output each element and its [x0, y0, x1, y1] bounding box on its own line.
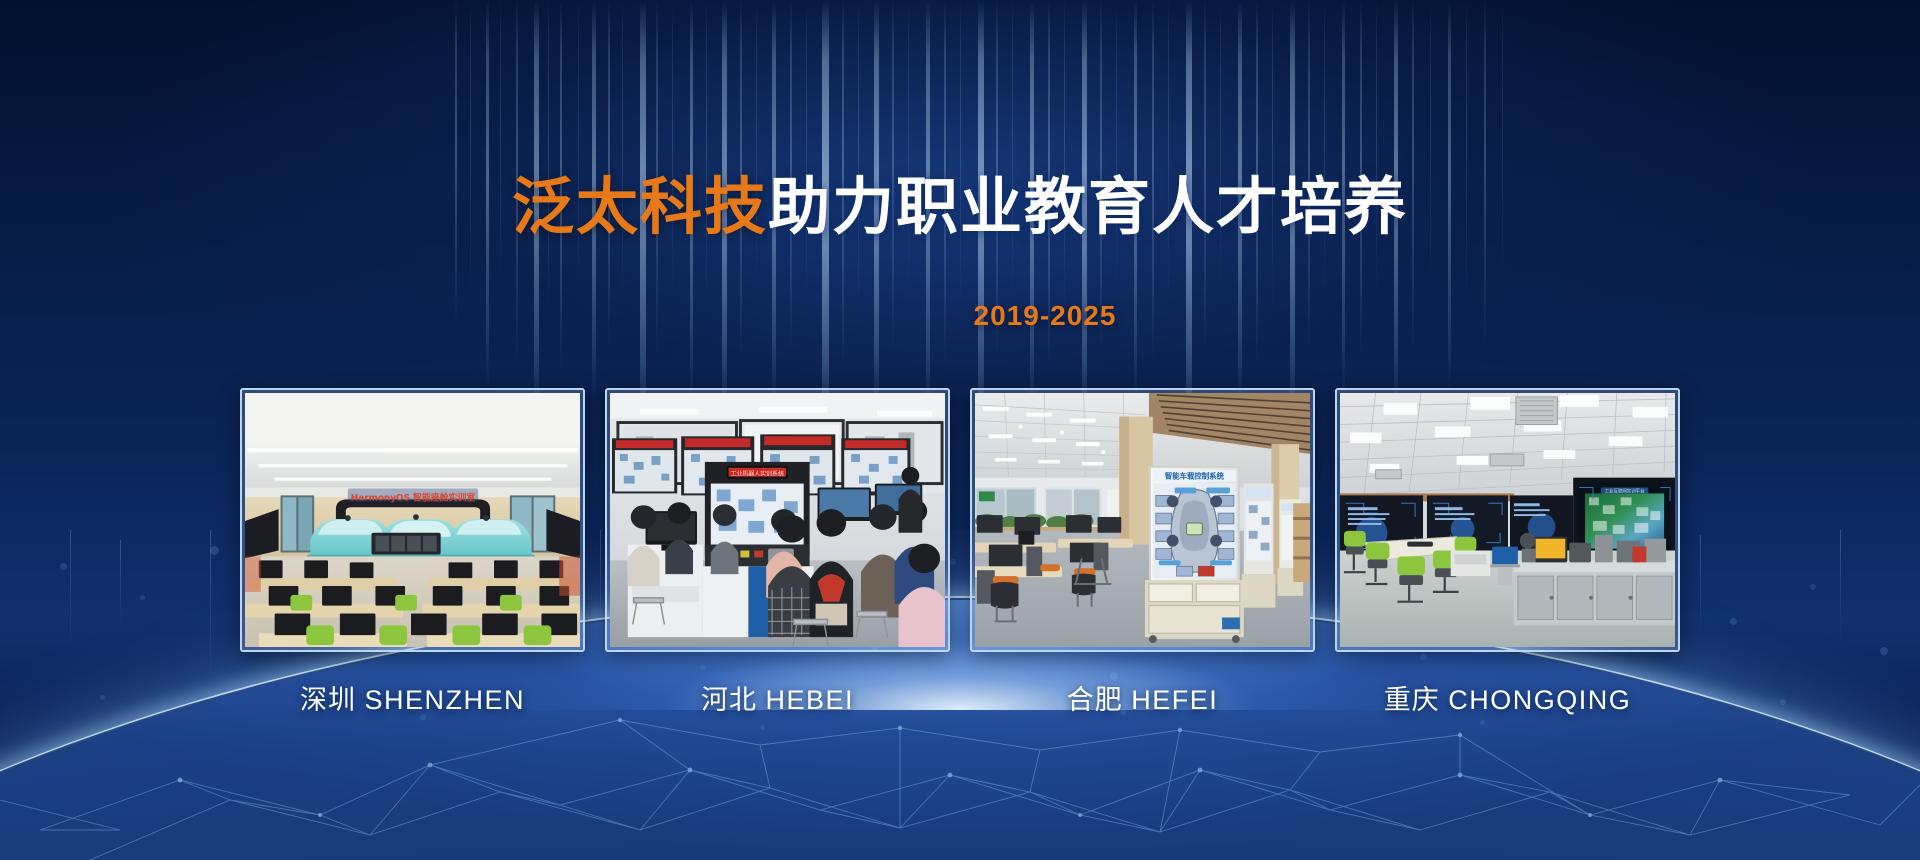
light-ray [908, 0, 909, 290]
particle-dot [100, 695, 105, 700]
light-ray [622, 0, 623, 300]
photo-gallery: HarmonyOS 智能座舱实训室 [240, 388, 1680, 717]
light-ray [578, 0, 579, 290]
photo-frame: HarmonyOS 智能座舱实训室 [240, 388, 585, 652]
light-ray [1376, 0, 1377, 298]
caption-en: HEBEI [765, 685, 854, 715]
photo-frame: 工业互联网实训平台 [1335, 388, 1680, 652]
light-ray [455, 0, 457, 330]
particle-dot [210, 546, 219, 555]
light-ray [548, 0, 549, 310]
light-ray [1116, 0, 1117, 292]
page-title: 泛太科技助力职业教育人才培养 [0, 172, 1920, 244]
light-ray [1064, 0, 1065, 312]
light-ray [706, 0, 707, 305]
caption-en: CHONGQING [1448, 685, 1631, 715]
light-ray [672, 0, 673, 295]
gallery-caption-shenzhen: 深圳 SHENZHEN [240, 678, 585, 717]
svg-text:工业机器人实训系统: 工业机器人实训系统 [731, 470, 784, 478]
svg-text:工业互联网实训平台: 工业互联网实训平台 [1605, 487, 1645, 494]
gallery-item-shenzhen[interactable]: HarmonyOS 智能座舱实训室 [240, 388, 585, 717]
photo-shenzhen: HarmonyOS 智能座舱实训室 [245, 393, 580, 647]
light-ray [858, 0, 859, 310]
light-streak [1840, 530, 1841, 645]
light-streak [120, 540, 121, 630]
light-ray [1220, 0, 1221, 288]
particle-dot [140, 595, 145, 600]
light-ray [1466, 0, 1467, 300]
particle-dot [1480, 720, 1485, 725]
title-year-range: 2019-2025 [0, 300, 1920, 332]
particle-dot [1880, 647, 1888, 655]
gallery-caption-chongqing: 重庆 CHONGQING [1335, 678, 1680, 717]
photo-frame: 智能车载控制系统 [970, 388, 1315, 652]
gallery-caption-hebei: 河北 HEBEI [605, 678, 950, 717]
light-streak [1700, 535, 1701, 635]
title-rest: 助力职业教育人才培养 [768, 173, 1408, 242]
particle-dot [1810, 584, 1816, 590]
particle-dot [760, 725, 765, 730]
gallery-item-hebei[interactable]: 工业机器人实训系统 [605, 388, 950, 717]
light-ray [1324, 0, 1325, 294]
particle-dot [1780, 699, 1786, 705]
light-ray [470, 0, 471, 300]
light-streak [70, 530, 71, 650]
promotional-banner: 泛太科技助力职业教育人才培养 2019-2025 [0, 0, 1920, 860]
light-ray [1272, 0, 1273, 308]
svg-text:智能车载控制系统: 智能车载控制系统 [1164, 472, 1225, 481]
caption-en: SHENZHEN [365, 685, 526, 715]
caption-cn: 河北 [701, 685, 757, 715]
caption-cn: 深圳 [300, 685, 356, 715]
photo-hebei: 工业机器人实训系统 [610, 393, 945, 647]
photo-chongqing: 工业互联网实训平台 [1340, 393, 1675, 647]
light-ray [960, 0, 961, 302]
gallery-item-hefei[interactable]: 智能车载控制系统 [970, 388, 1315, 717]
gallery-caption-hefei: 合肥 HEFEI [970, 678, 1315, 717]
caption-cn: 重庆 [1384, 685, 1440, 715]
light-ray [806, 0, 807, 300]
caption-en: HEFEI [1131, 685, 1218, 715]
photo-hefei: 智能车载控制系统 [975, 393, 1310, 647]
particle-dot [1730, 618, 1737, 625]
light-streak [210, 530, 211, 680]
title-brand: 泛太科技 [512, 173, 768, 242]
light-ray [1430, 0, 1431, 290]
svg-text:HarmonyOS 智能座舱实训室: HarmonyOS 智能座舱实训室 [351, 491, 476, 503]
photo-frame: 工业机器人实训系统 [605, 388, 950, 652]
light-ray [1012, 0, 1013, 296]
caption-cn: 合肥 [1067, 685, 1123, 715]
gallery-item-chongqing[interactable]: 工业互联网实训平台 [1335, 388, 1680, 717]
particle-dot [60, 563, 67, 570]
light-ray [1168, 0, 1169, 300]
